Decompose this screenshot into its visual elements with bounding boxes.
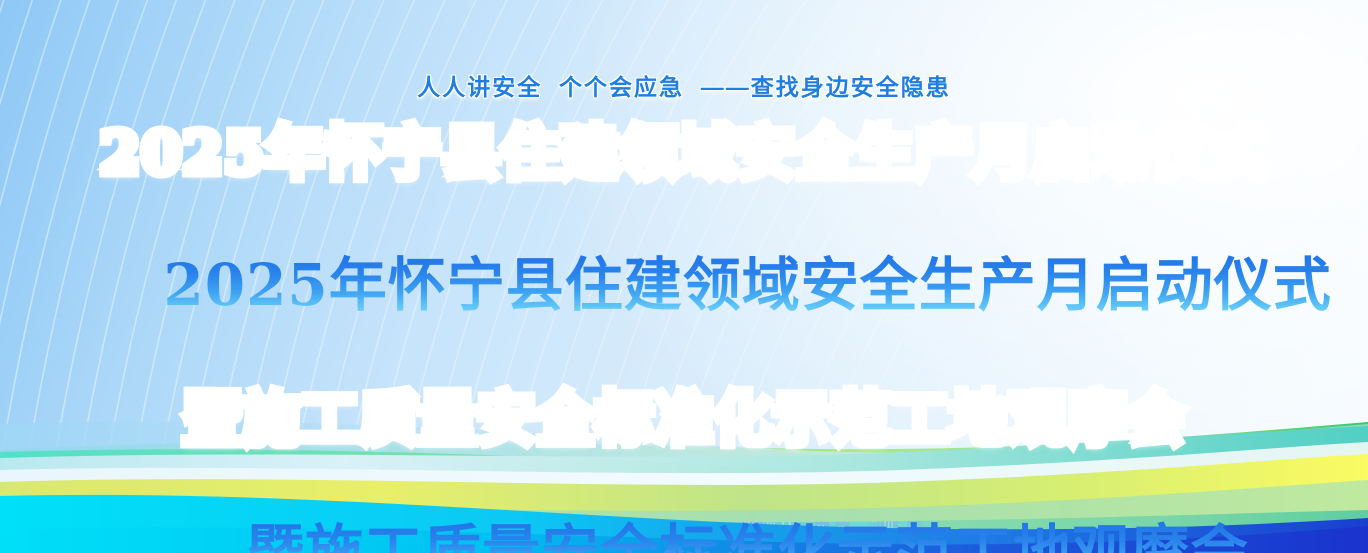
title-line-2-fill: 暨施工质量安全标准化示范工地观摩会 bbox=[246, 518, 1249, 553]
poster-canvas: 人人讲安全 个个会应急 ——查找身边安全隐患 2025年怀宁县住建领域安全生产月… bbox=[0, 0, 1368, 553]
poster-title-line-1: 2025年怀宁县住建领域安全生产月启动仪式 2025年怀宁县住建领域安全生产月启… bbox=[0, 120, 1368, 384]
poster-title-line-2: 暨施工质量安全标准化示范工地观摩会 暨施工质量安全标准化示范工地观摩会 bbox=[0, 386, 1368, 553]
poster-text-block: 人人讲安全 个个会应急 ——查找身边安全隐患 2025年怀宁县住建领域安全生产月… bbox=[0, 0, 1368, 553]
poster-slogan: 人人讲安全 个个会应急 ——查找身边安全隐患 bbox=[0, 68, 1368, 102]
title-line-2-outline: 暨施工质量安全标准化示范工地观摩会 bbox=[0, 386, 1368, 452]
title-line-1-outline: 2025年怀宁县住建领域安全生产月启动仪式 bbox=[0, 120, 1368, 186]
title-line-1-fill: 2025年怀宁县住建领域安全生产月启动仪式 bbox=[163, 251, 1331, 319]
